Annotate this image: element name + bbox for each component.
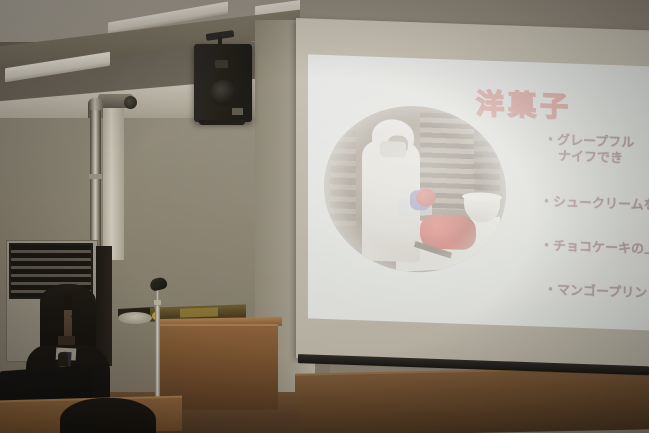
flue-pipe-cap: [124, 96, 137, 109]
projection-screen: 洋菓子 ・グレープフル ナイフでき ・シュークリームを ・チョコケーキの上 ・マ…: [296, 18, 649, 390]
flue-pipe-vertical: [90, 110, 101, 258]
bullet-text: シュークリームを: [553, 194, 649, 213]
bullet-marker: ・: [540, 238, 553, 253]
slide-photo-confectionery-worker: [324, 103, 506, 275]
wall-duct: [103, 108, 124, 260]
white-tray: [118, 312, 152, 324]
microphone-stand[interactable]: [155, 300, 160, 400]
speaker-tweeter: [215, 60, 228, 68]
projected-slide: 洋菓子 ・グレープフル ナイフでき ・シュークリームを ・チョコケーキの上 ・マ…: [308, 54, 649, 330]
audience-head-silhouette: [60, 398, 156, 433]
bullet-text: マンゴープリン: [557, 282, 647, 300]
bullet-marker: ・: [540, 194, 553, 209]
photo-vignette: [324, 103, 506, 275]
heater-side-panel: [96, 246, 112, 366]
speaker-woofer: [210, 80, 236, 106]
bullet-marker: ・: [544, 282, 557, 297]
slide-title: 洋菓子: [476, 82, 572, 125]
speaker-base: [199, 120, 245, 125]
pa-speaker: [194, 44, 252, 122]
slide-bullet-4: ・マンゴープリン: [544, 279, 647, 302]
speaker-badge: [232, 108, 243, 115]
slide-bullet-3: ・チョコケーキの上: [540, 235, 649, 258]
slide-bullet-2: ・シュークリームを: [540, 191, 649, 214]
flue-pipe-band: [89, 174, 102, 179]
slide-bullet-1-line2: ナイフでき: [558, 145, 623, 166]
microphone-stand-collar[interactable]: [154, 300, 161, 305]
presentation-room-photo: 洋菓子 ・グレープフル ナイフでき ・シュークリームを ・チョコケーキの上 ・マ…: [0, 0, 649, 433]
bullet-text: チョコケーキの上: [553, 238, 649, 257]
bullet-marker: ・: [544, 132, 557, 147]
podium-equipment-panel: [180, 307, 218, 317]
